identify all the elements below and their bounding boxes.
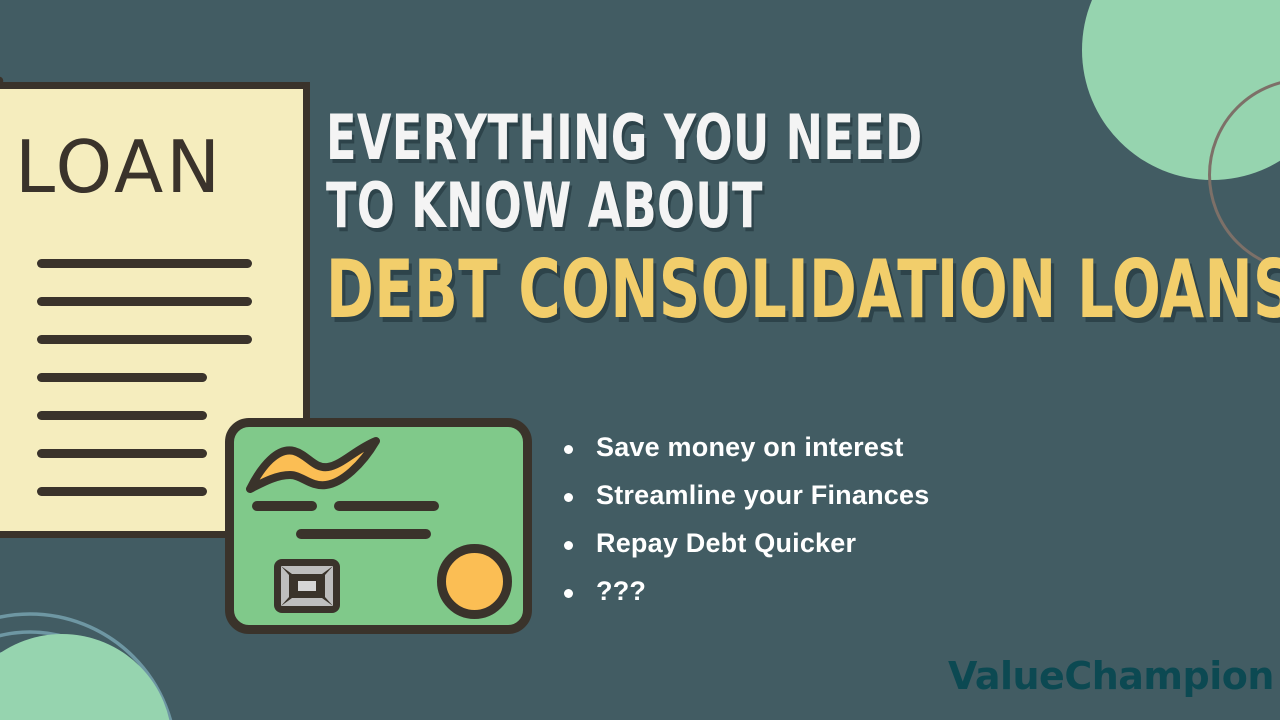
doc-text-line bbox=[37, 373, 207, 382]
check-icon bbox=[0, 75, 5, 112]
doc-text-line bbox=[37, 449, 207, 458]
loan-document-title: LOAN bbox=[15, 131, 223, 203]
card-text-line bbox=[334, 501, 439, 511]
benefits-list: Save money on interest Streamline your F… bbox=[556, 432, 929, 624]
doc-text-line bbox=[37, 259, 252, 268]
headline-line-1: Everything You Need bbox=[326, 112, 1078, 164]
infographic-canvas: LOAN Everything You Need To Know About D… bbox=[0, 0, 1280, 720]
headline-line-2: To Know About bbox=[326, 180, 1078, 232]
headline-block: Everything You Need To Know About Debt C… bbox=[326, 112, 1266, 323]
list-item: ??? bbox=[556, 576, 929, 607]
signature-wave-icon bbox=[246, 435, 386, 497]
card-text-line bbox=[296, 529, 431, 539]
doc-text-line bbox=[37, 411, 207, 420]
orange-circle-icon bbox=[437, 544, 512, 619]
emv-chip-icon bbox=[272, 557, 342, 615]
list-item: Repay Debt Quicker bbox=[556, 528, 929, 559]
brand-name: ValueChampion bbox=[948, 657, 1274, 695]
list-item: Save money on interest bbox=[556, 432, 929, 463]
brand-logo: ValueChampion bbox=[948, 652, 1280, 700]
doc-text-line bbox=[37, 297, 252, 306]
card-text-line bbox=[252, 501, 317, 511]
credit-card-graphic bbox=[225, 418, 532, 634]
doc-text-line bbox=[37, 335, 252, 344]
list-item: Streamline your Finances bbox=[556, 480, 929, 511]
doc-text-line bbox=[37, 487, 207, 496]
headline-line-3: Debt Consolidation Loans bbox=[326, 256, 1078, 323]
